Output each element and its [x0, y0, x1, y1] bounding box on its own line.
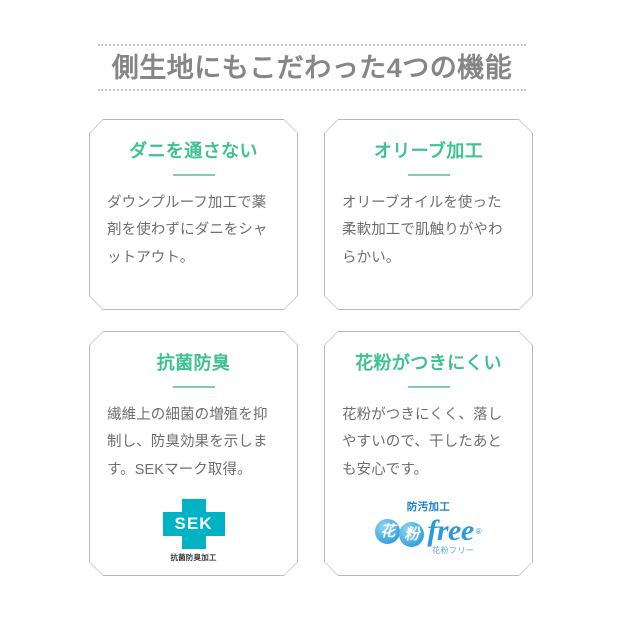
sek-mark-label: SEK: [163, 512, 225, 536]
page-title-block: 側生地にもこだわった4つの機能: [98, 44, 526, 91]
card-body-text: 繊維上の細菌の増殖を抑制し、防臭効果を示します。SEKマーク取得。: [107, 402, 280, 485]
card-heading: ダニを通さない: [107, 141, 280, 163]
registered-trademark-icon: ®: [476, 527, 482, 536]
sek-cross-shape: SEK: [163, 499, 225, 549]
feature-card-antibacterial-deodorant: 抗菌防臭 繊維上の細菌の増殖を抑制し、防臭効果を示します。SEKマーク取得。 S…: [89, 331, 298, 576]
kafun-free-wordmark: free: [427, 516, 473, 546]
heading-underline-accent: [173, 174, 215, 176]
heading-underline-accent: [408, 174, 450, 176]
kafun-free-mark-icon: 防汚加工 花 粉 free ® 花粉フリー: [373, 499, 485, 556]
page-title: 側生地にもこだわった4つの機能: [98, 53, 526, 83]
certification-logo-area: SEK 抗菌防臭加工: [107, 499, 280, 563]
card-heading: 抗菌防臭: [107, 353, 280, 375]
kafun-badge-fun: 粉: [399, 522, 424, 547]
feature-card-pollen-resistant: 花粉がつきにくい 花粉がつきにくく、落しやすいので、干したあとも安心です。 防汚…: [324, 331, 533, 576]
feature-card-olive-finish: オリーブ加工 オリーブオイルを使った柔軟加工で肌触りがやわらかい。: [324, 119, 533, 310]
card-body-text: ダウンプルーフ加工で薬剤を使わずにダニをシャットアウト。: [107, 190, 280, 273]
certification-logo-area: 防汚加工 花 粉 free ® 花粉フリー: [342, 499, 515, 556]
kafun-free-wordmark-row: 花 粉 free ®: [373, 515, 485, 547]
card-body-text: オリーブオイルを使った柔軟加工で肌触りがやわらかい。: [342, 190, 515, 273]
heading-underline-accent: [408, 386, 450, 388]
feature-panel: 側生地にもこだわった4つの機能 ダニを通さない ダウンプルーフ加工で薬剤を使わず…: [0, 0, 621, 621]
heading-underline-accent: [173, 386, 215, 388]
card-heading: オリーブ加工: [342, 141, 515, 163]
sek-mark-caption: 抗菌防臭加工: [159, 552, 229, 563]
feature-card-grid: ダニを通さない ダウンプルーフ加工で薬剤を使わずにダニをシャットアウト。 オリー…: [89, 119, 533, 576]
feature-card-mite-proof: ダニを通さない ダウンプルーフ加工で薬剤を使わずにダニをシャットアウト。: [89, 119, 298, 310]
kafun-badge-ka: 花: [375, 519, 400, 544]
kafun-free-top-label: 防汚加工: [373, 499, 485, 514]
sek-mark-icon: SEK 抗菌防臭加工: [159, 499, 229, 563]
card-body-text: 花粉がつきにくく、落しやすいので、干したあとも安心です。: [342, 402, 515, 485]
card-heading: 花粉がつきにくい: [342, 353, 515, 375]
